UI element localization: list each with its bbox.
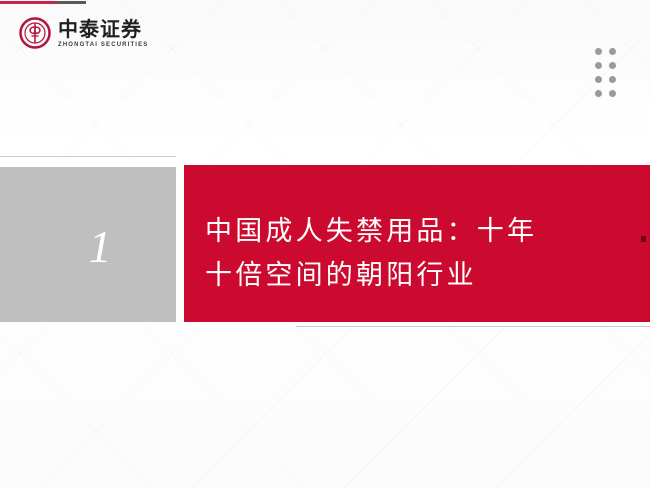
grid-dot — [605, 58, 619, 72]
divider-rule-top-left — [0, 156, 176, 157]
section-number: 1 — [65, 220, 112, 270]
grid-dot — [591, 58, 605, 72]
brand-logo: 中泰证券 ZHONGTAI SECURITIES — [19, 17, 148, 49]
top-accent-dark-segment — [56, 1, 86, 4]
brand-name-cn: 中泰证券 — [58, 19, 148, 40]
band-speck-artifact — [641, 236, 646, 242]
grid-dot — [605, 44, 619, 58]
page-title: 中国成人失禁用品：十年 十倍空间的朝阳行业 — [205, 210, 537, 298]
zhongtai-circular-emblem-icon — [19, 17, 51, 49]
brand-name-en: ZHONGTAI SECURITIES — [58, 42, 148, 48]
grid-dot — [605, 86, 619, 100]
presentation-slide: 中泰证券 ZHONGTAI SECURITIES 1 中国成人失禁用品：十年 十… — [0, 0, 650, 488]
dot-grid-icon — [591, 44, 619, 100]
grid-dot — [591, 72, 605, 86]
divider-rule-bottom-right — [296, 326, 650, 327]
brand-logo-text: 中泰证券 ZHONGTAI SECURITIES — [58, 19, 148, 48]
top-accent-red-segment — [0, 1, 56, 4]
grid-dot — [605, 72, 619, 86]
top-accent-bar — [0, 1, 86, 4]
grid-dot — [591, 86, 605, 100]
section-number-block: 1 — [0, 167, 176, 322]
grid-dot — [591, 44, 605, 58]
section-title-band: 中国成人失禁用品：十年 十倍空间的朝阳行业 — [184, 165, 650, 322]
